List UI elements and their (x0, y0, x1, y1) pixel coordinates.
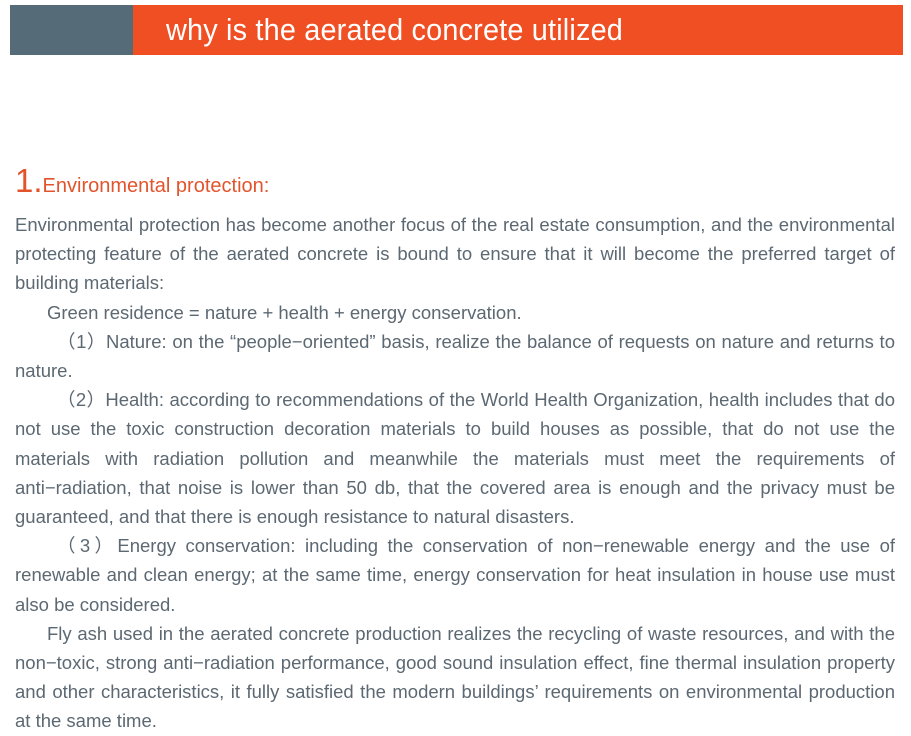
section-number: 1. (15, 162, 43, 199)
section-heading: 1.Environmental protection: (15, 164, 269, 197)
paragraph-item-2-health: （2）Health: according to recommendations … (15, 385, 895, 531)
header-accent-block (10, 5, 133, 55)
paragraph-intro: Environmental protection has become anot… (15, 210, 895, 298)
page-title: why is the aerated concrete utilized (166, 5, 817, 55)
paragraph-item-1-nature: （1）Nature: on the “people−oriented” basi… (15, 327, 895, 385)
page-header: why is the aerated concrete utilized (0, 0, 911, 60)
paragraph-item-3-energy-conservation: （3）Energy conservation: including the co… (15, 531, 895, 619)
paragraph-green-residence-formula: Green residence = nature + health + ener… (15, 298, 895, 327)
paragraph-fly-ash-summary: Fly ash used in the aerated concrete pro… (15, 619, 895, 736)
body-text-block: Environmental protection has become anot… (15, 210, 895, 736)
section-label: Environmental protection: (43, 175, 270, 197)
